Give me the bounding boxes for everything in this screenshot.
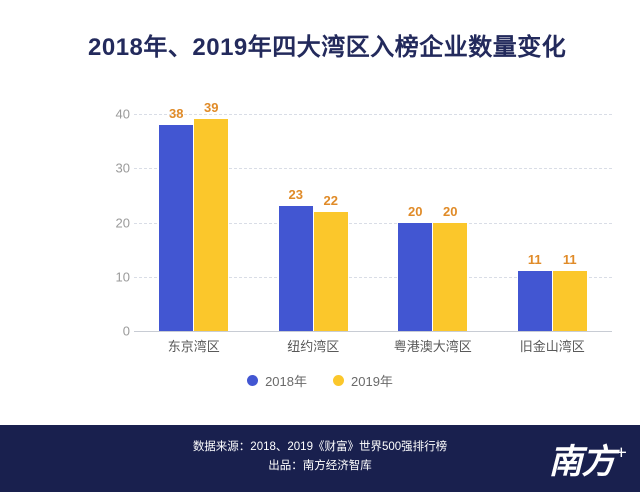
bar[interactable]: 38: [159, 125, 193, 331]
legend-label: 2019年: [351, 371, 393, 390]
x-axis-category-label: 粤港澳大湾区: [394, 336, 472, 355]
bar[interactable]: 22: [314, 212, 348, 331]
y-axis-tick-label: 30: [116, 161, 130, 176]
brand-logo-plus-icon: +: [616, 442, 626, 464]
bar[interactable]: 23: [279, 206, 313, 331]
bar[interactable]: 11: [553, 271, 587, 331]
bar-value-label: 11: [528, 252, 542, 267]
footer-source-line: 数据来源：2018、2019《财富》世界500强排行榜: [0, 438, 640, 457]
bar[interactable]: 20: [433, 223, 467, 332]
chart-plot-area: 010203040 3839232220201111 东京湾区纽约湾区粤港澳大湾…: [0, 0, 640, 420]
y-axis-tick-label: 40: [116, 107, 130, 122]
footer-bar: 数据来源：2018、2019《财富》世界500强排行榜 出品：南方经济智库 南方…: [0, 425, 640, 492]
x-axis-category-label: 旧金山湾区: [520, 336, 585, 355]
x-axis-category-label: 纽约湾区: [287, 336, 339, 355]
footer-producer-line: 出品：南方经济智库: [0, 457, 640, 476]
bar[interactable]: 20: [398, 223, 432, 332]
legend-label: 2018年: [265, 371, 307, 390]
legend-swatch-icon: [247, 375, 258, 386]
bar-value-label: 38: [169, 106, 183, 121]
bar-value-label: 11: [563, 252, 577, 267]
legend-item[interactable]: 2019年: [333, 371, 393, 390]
bar[interactable]: 39: [194, 119, 228, 331]
x-axis-category-label: 东京湾区: [168, 336, 220, 355]
bar-value-label: 39: [204, 100, 218, 115]
legend-item[interactable]: 2018年: [247, 371, 307, 390]
bar-value-label: 20: [443, 204, 457, 219]
bar-value-label: 20: [408, 204, 422, 219]
bar[interactable]: 11: [518, 271, 552, 331]
footer-text-block: 数据来源：2018、2019《财富》世界500强排行榜 出品：南方经济智库: [0, 438, 640, 476]
y-axis-tick-label: 20: [116, 215, 130, 230]
brand-logo: 南方+: [549, 431, 626, 485]
y-axis-tick-label: 0: [123, 324, 130, 339]
x-axis: 东京湾区纽约湾区粤港澳大湾区旧金山湾区: [134, 336, 612, 360]
bar-value-label: 23: [289, 187, 303, 202]
chart-legend: 2018年2019年: [0, 371, 640, 390]
legend-swatch-icon: [333, 375, 344, 386]
bar-value-label: 22: [324, 193, 338, 208]
y-axis-tick-label: 10: [116, 269, 130, 284]
y-axis: 010203040: [98, 0, 130, 420]
brand-logo-text: 南方: [549, 444, 615, 481]
